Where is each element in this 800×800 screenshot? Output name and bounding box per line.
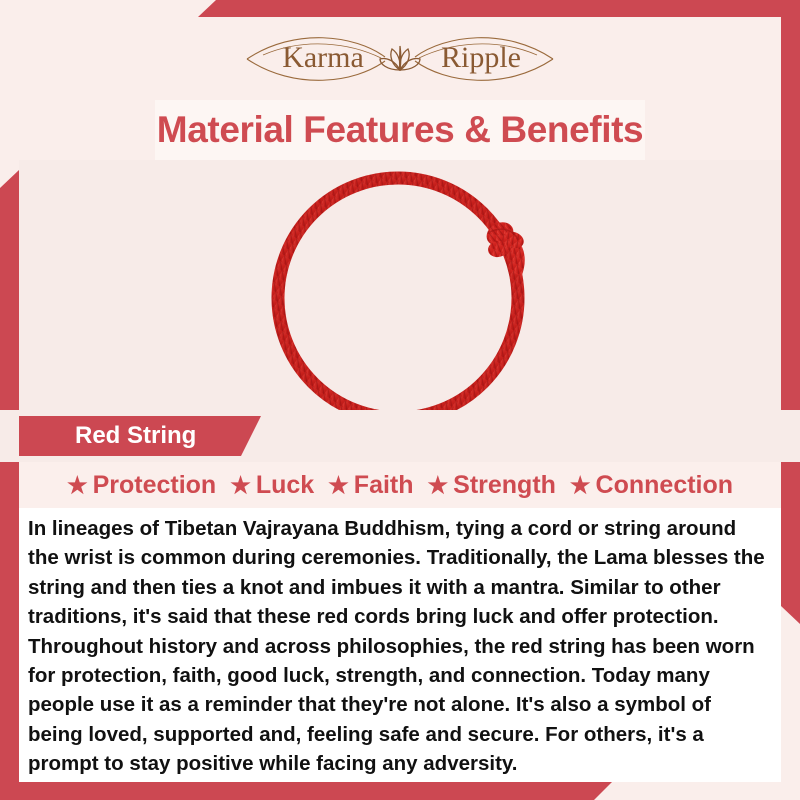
feature-label: Connection: [596, 471, 734, 500]
brand-name-right: Ripple: [441, 41, 521, 74]
lotus-flourish-icon: Karma Ripple: [235, 29, 565, 89]
feature-label: Luck: [256, 471, 314, 500]
frame-bar-left: [0, 170, 19, 800]
brand-name-left: Karma: [282, 41, 364, 74]
description-text: In lineages of Tibetan Vajrayana Buddhis…: [28, 514, 765, 779]
feature-label: Strength: [453, 471, 556, 500]
product-image: [19, 160, 781, 410]
material-banner: Red String: [19, 416, 261, 456]
star-icon: ★: [67, 474, 88, 497]
star-icon: ★: [230, 474, 251, 497]
feature-label: Protection: [93, 471, 217, 500]
feature-item-strength: ★ Strength: [422, 471, 562, 500]
feature-label: Faith: [354, 471, 414, 500]
page-title-band: Material Features & Benefits: [155, 100, 645, 160]
star-icon: ★: [570, 474, 591, 497]
frame-bar-right: [781, 0, 800, 624]
brand-logo: Karma Ripple: [0, 28, 800, 90]
star-icon: ★: [328, 474, 349, 497]
feature-item-connection: ★ Connection: [564, 471, 739, 500]
star-icon: ★: [428, 474, 449, 497]
frame-bar-top: [0, 0, 800, 17]
material-banner-label: Red String: [75, 422, 196, 450]
frame-bar-bottom: [0, 782, 800, 800]
description-panel: In lineages of Tibetan Vajrayana Buddhis…: [19, 508, 781, 782]
feature-item-protection: ★ Protection: [61, 471, 222, 500]
feature-list: ★ Protection ★ Luck ★ Faith ★ Strength ★…: [19, 462, 781, 508]
red-string-bracelet-illustration: [250, 160, 550, 410]
feature-item-faith: ★ Faith: [322, 471, 419, 500]
feature-item-luck: ★ Luck: [224, 471, 320, 500]
page-title: Material Features & Benefits: [157, 109, 643, 151]
